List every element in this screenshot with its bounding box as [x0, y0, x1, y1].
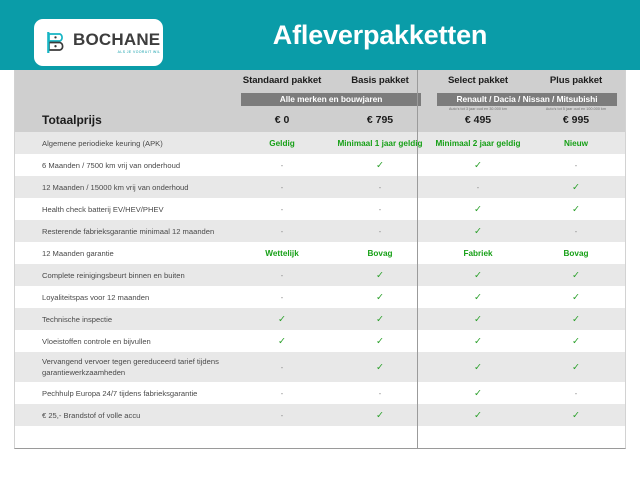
row-cell-3: Bovag [527, 248, 625, 259]
row-cell-0: - [233, 226, 331, 237]
table-row: Pechhulp Europa 24/7 tijdens fabrieksgar… [15, 382, 625, 404]
group-bar-right-wrap: Renault / Dacia / Nissan / Mitsubishi [429, 92, 625, 106]
row-cell-0: - [233, 292, 331, 303]
row-cell-2: ✓ [429, 226, 527, 237]
row-cell-2: ✓ [429, 270, 527, 281]
table-row: Vloeistoffen controle en bijvullen✓✓✓✓ [15, 330, 625, 352]
row-label: Vervangend vervoer tegen gereduceerd tar… [15, 356, 233, 378]
row-values: --✓- [233, 388, 625, 399]
row-label: 12 Maanden garantie [15, 248, 233, 259]
packages-table: Standaard pakket Basis pakket Select pak… [14, 70, 626, 449]
row-cell-2: ✓ [429, 410, 527, 421]
row-cell-3: ✓ [527, 314, 625, 325]
row-cell-3: ✓ [527, 410, 625, 421]
page-banner: BOCHANE ALS JE VOORUIT WIL Afleverpakket… [0, 0, 640, 70]
row-cell-1: Minimaal 1 jaar geldig [331, 138, 429, 149]
table-row: Technische inspectie✓✓✓✓ [15, 308, 625, 330]
row-label: Technische inspectie [15, 314, 233, 325]
table-row: 6 Maanden / 7500 km vrij van onderhoud-✓… [15, 154, 625, 176]
table-row: Algemene periodieke keuring (APK)GeldigM… [15, 132, 625, 154]
row-values: GeldigMinimaal 1 jaar geldigMinimaal 2 j… [233, 138, 625, 149]
group-bar-left-wrap: Alle merken en bouwjaren [233, 92, 429, 106]
table-row: 12 Maanden garantieWettelijkBovagFabriek… [15, 242, 625, 264]
price-select: € 495 [429, 114, 527, 126]
row-cell-1: - [331, 388, 429, 399]
row-cell-3: - [527, 160, 625, 171]
row-cell-3: ✓ [527, 182, 625, 193]
row-label: Complete reinigingsbeurt binnen en buite… [15, 270, 233, 281]
group-bar-alle-merken: Alle merken en bouwjaren [241, 93, 421, 106]
package-group-bars: Alle merken en bouwjaren Renault / Dacia… [233, 92, 625, 106]
row-cell-3: - [527, 226, 625, 237]
row-label: € 25,- Brandstof of volle accu [15, 410, 233, 421]
package-name-basis: Basis pakket [331, 75, 429, 91]
row-cell-3: ✓ [527, 270, 625, 281]
row-cell-2: ✓ [429, 160, 527, 171]
row-values: WettelijkBovagFabriekBovag [233, 248, 625, 259]
table-row: 12 Maanden / 15000 km vrij van onderhoud… [15, 176, 625, 198]
price-standaard: € 0 [233, 114, 331, 126]
row-values: -✓✓✓ [233, 292, 625, 303]
row-label: Vloeistoffen controle en bijvullen [15, 336, 233, 347]
row-values: -✓✓✓ [233, 362, 625, 373]
table-row: Vervangend vervoer tegen gereduceerd tar… [15, 352, 625, 382]
row-cell-2: ✓ [429, 388, 527, 399]
row-values: ---✓ [233, 182, 625, 193]
total-price-cells: € 0 € 795 € 495 € 995 [233, 114, 625, 126]
row-cell-2: Minimaal 2 jaar geldig [429, 138, 527, 149]
total-price-label: Totaalprijs [15, 113, 233, 127]
row-cell-1: ✓ [331, 292, 429, 303]
row-cell-2: Fabriek [429, 248, 527, 259]
row-cell-0: ✓ [233, 336, 331, 347]
feature-rows: Algemene periodieke keuring (APK)GeldigM… [15, 132, 625, 426]
row-label: Algemene periodieke keuring (APK) [15, 138, 233, 149]
row-cell-3: ✓ [527, 204, 625, 215]
price-basis: € 795 [331, 114, 429, 126]
page-title: Afleverpakketten [0, 0, 640, 70]
row-cell-0: ✓ [233, 314, 331, 325]
row-label: Loyaliteitspas voor 12 maanden [15, 292, 233, 303]
row-cell-0: Wettelijk [233, 248, 331, 259]
row-cell-2: ✓ [429, 204, 527, 215]
row-cell-1: ✓ [331, 314, 429, 325]
table-row: Health check batterij EV/HEV/PHEV--✓✓ [15, 198, 625, 220]
table-bottom-pad [15, 426, 625, 448]
row-label: Resterende fabrieksgarantie minimaal 12 … [15, 226, 233, 237]
row-cell-1: ✓ [331, 160, 429, 171]
row-label: Health check batterij EV/HEV/PHEV [15, 204, 233, 215]
row-cell-0: - [233, 362, 331, 373]
package-name-row: Standaard pakket Basis pakket Select pak… [233, 75, 625, 91]
price-plus: € 995 [527, 114, 625, 126]
row-label: 6 Maanden / 7500 km vrij van onderhoud [15, 160, 233, 171]
group-bar-renault-dacia-nissan-mitsubishi: Renault / Dacia / Nissan / Mitsubishi [437, 93, 617, 106]
row-cell-3: - [527, 388, 625, 399]
row-cell-3: ✓ [527, 362, 625, 373]
row-cell-3: Nieuw [527, 138, 625, 149]
row-cell-1: ✓ [331, 410, 429, 421]
row-cell-2: - [429, 182, 527, 193]
total-price-row: Totaalprijs € 0 € 795 € 495 € 995 [15, 111, 625, 129]
row-values: --✓✓ [233, 204, 625, 215]
row-cell-1: Bovag [331, 248, 429, 259]
table-header: Standaard pakket Basis pakket Select pak… [15, 70, 625, 132]
table-row: € 25,- Brandstof of volle accu-✓✓✓ [15, 404, 625, 426]
row-cell-1: ✓ [331, 362, 429, 373]
table-row: Resterende fabrieksgarantie minimaal 12 … [15, 220, 625, 242]
row-cell-1: ✓ [331, 270, 429, 281]
package-name-select: Select pakket [429, 75, 527, 91]
row-values: -✓✓✓ [233, 270, 625, 281]
row-cell-2: ✓ [429, 362, 527, 373]
row-cell-2: ✓ [429, 314, 527, 325]
row-cell-3: ✓ [527, 292, 625, 303]
row-cell-0: - [233, 204, 331, 215]
row-cell-0: - [233, 388, 331, 399]
package-name-plus: Plus pakket [527, 75, 625, 91]
row-label: Pechhulp Europa 24/7 tijdens fabrieksgar… [15, 388, 233, 399]
row-cell-1: - [331, 204, 429, 215]
row-cell-0: - [233, 410, 331, 421]
row-values: ✓✓✓✓ [233, 336, 625, 347]
row-values: -✓✓- [233, 160, 625, 171]
table-row: Loyaliteitspas voor 12 maanden-✓✓✓ [15, 286, 625, 308]
afleverpakketten-page: BOCHANE ALS JE VOORUIT WIL Afleverpakket… [0, 0, 640, 480]
row-cell-0: - [233, 182, 331, 193]
row-cell-2: ✓ [429, 292, 527, 303]
row-cell-1: ✓ [331, 336, 429, 347]
row-cell-0: - [233, 160, 331, 171]
row-label: 12 Maanden / 15000 km vrij van onderhoud [15, 182, 233, 193]
package-name-standaard: Standaard pakket [233, 75, 331, 91]
row-cell-0: Geldig [233, 138, 331, 149]
row-cell-3: ✓ [527, 336, 625, 347]
row-cell-2: ✓ [429, 336, 527, 347]
row-values: ✓✓✓✓ [233, 314, 625, 325]
table-row: Complete reinigingsbeurt binnen en buite… [15, 264, 625, 286]
row-values: --✓- [233, 226, 625, 237]
row-cell-1: - [331, 182, 429, 193]
row-values: -✓✓✓ [233, 410, 625, 421]
row-cell-0: - [233, 270, 331, 281]
row-cell-1: - [331, 226, 429, 237]
